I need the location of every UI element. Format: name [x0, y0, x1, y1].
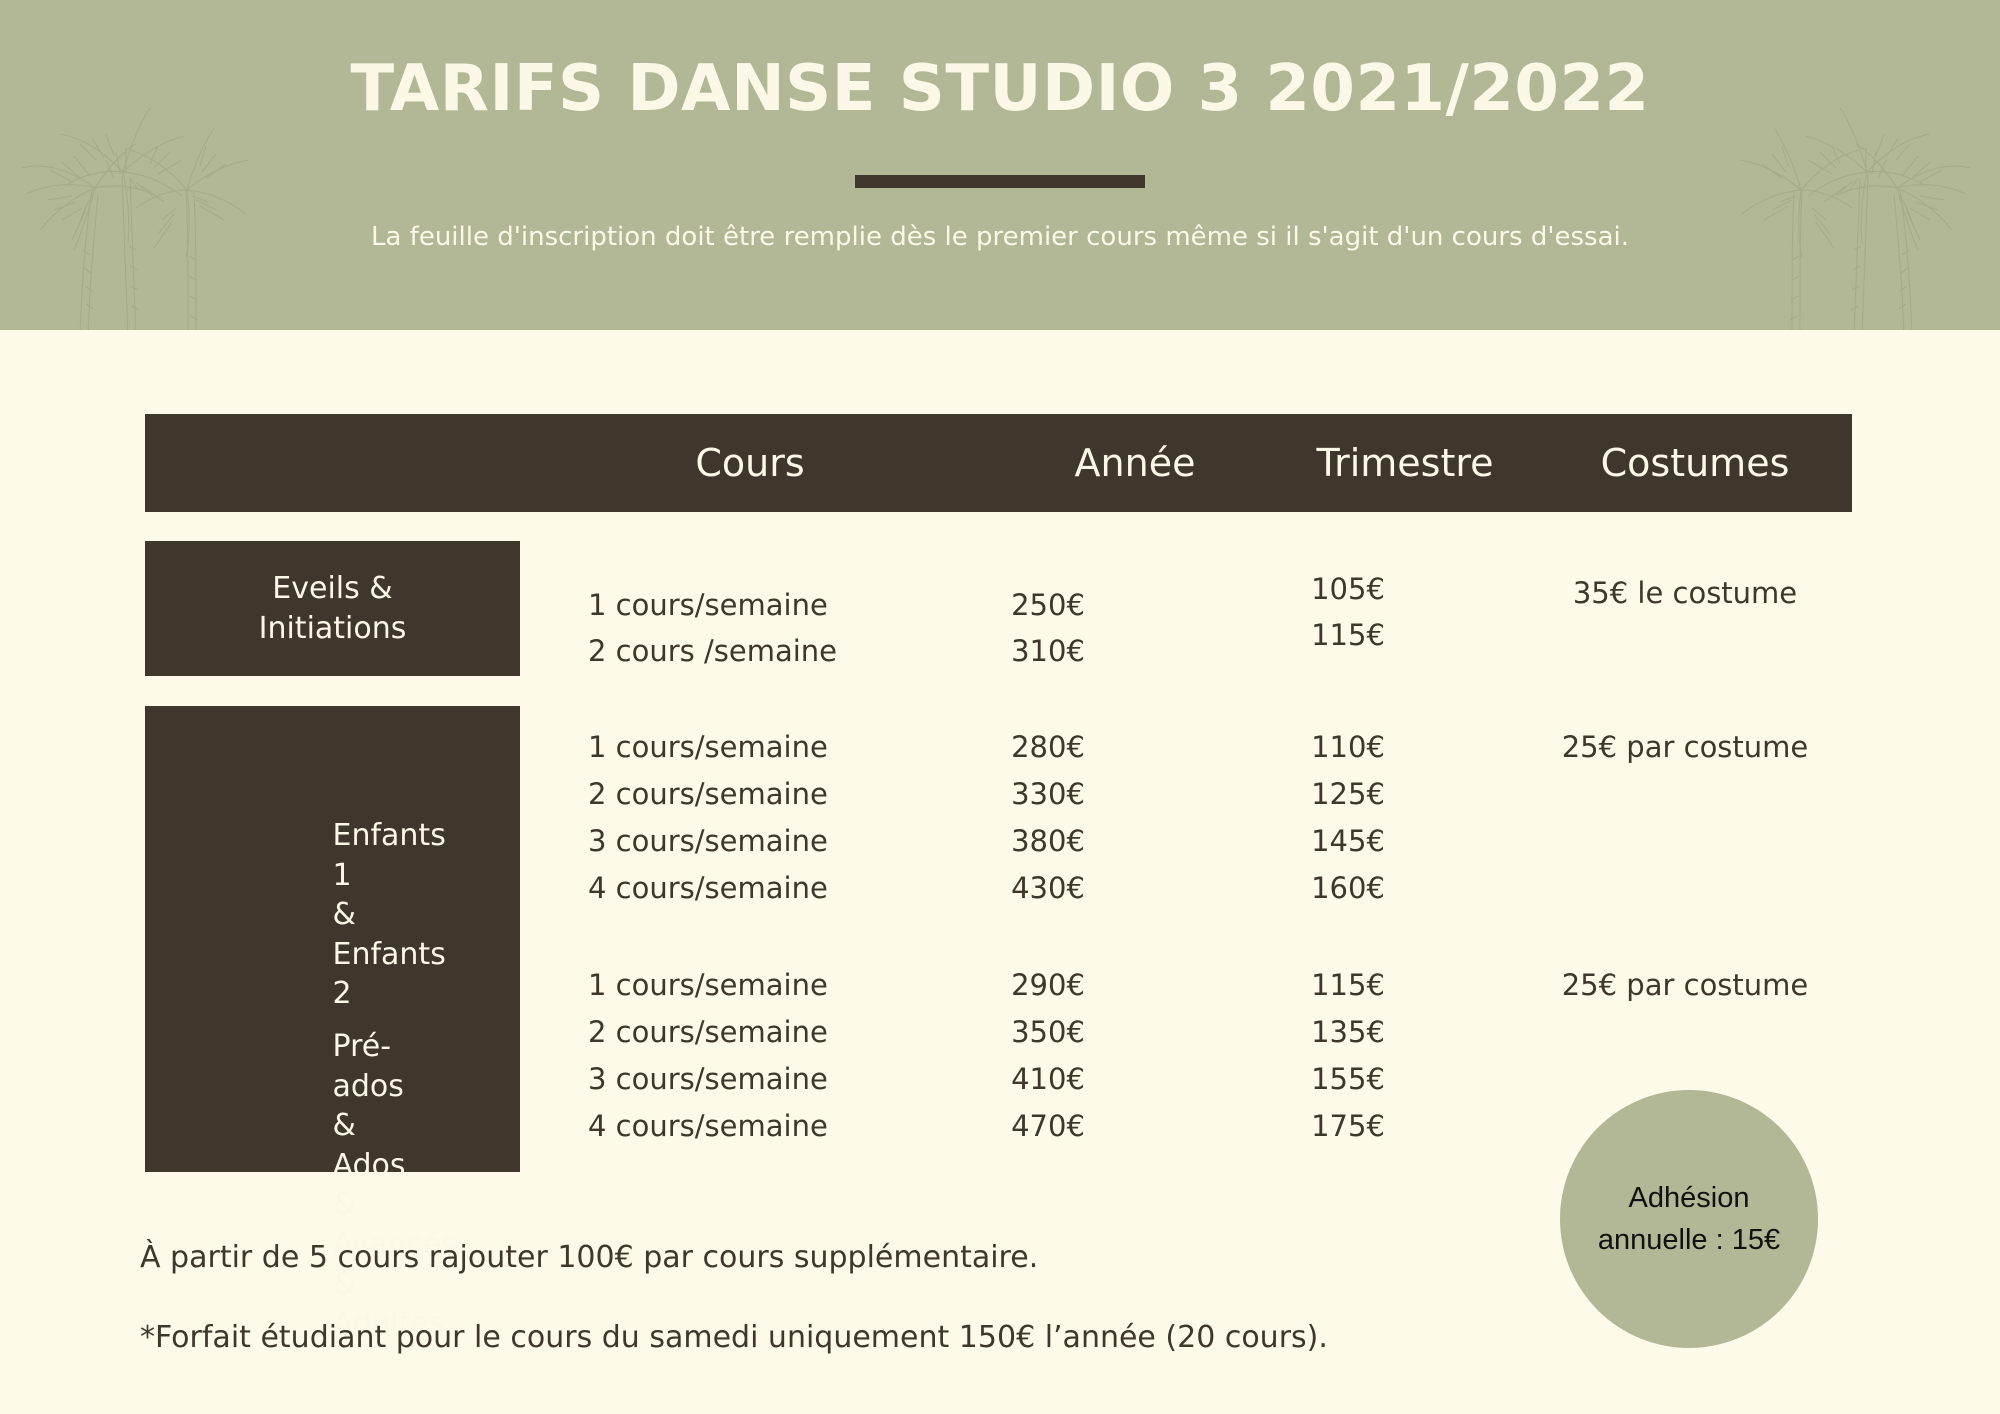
table-cell-cours: 4 cours/semaine — [588, 1109, 868, 1143]
table-cell-cours: 1 cours/semaine — [588, 588, 868, 622]
table-cell-annee: 290€ — [978, 968, 1118, 1002]
title-divider — [855, 175, 1145, 188]
table-header-bar: Cours Année Trimestre Costumes — [145, 414, 1852, 512]
table-cell-trimestre: 125€ — [1288, 777, 1408, 811]
table-cell-cours: 4 cours/semaine — [588, 871, 868, 905]
badge-line-2: annuelle : 15€ — [1598, 1219, 1780, 1261]
table-cell-cours: 3 cours/semaine — [588, 1062, 868, 1096]
table-cell-annee: 250€ — [978, 588, 1118, 622]
table-cell-costumes: 25€ par costume — [1520, 968, 1850, 1002]
table-cell-trimestre: 175€ — [1288, 1109, 1408, 1143]
header-subtitle: La feuille d'inscription doit être rempl… — [0, 222, 2000, 252]
column-header-trimestre: Trimestre — [1275, 414, 1535, 512]
table-cell-cours: 2 cours /semaine — [588, 634, 868, 668]
table-cell-trimestre: 155€ — [1288, 1062, 1408, 1096]
document-header: TARIFS DANSE STUDIO 3 2021/2022 La feuil… — [0, 0, 2000, 330]
table-cell-annee: 470€ — [978, 1109, 1118, 1143]
table-cell-trimestre: 135€ — [1288, 1015, 1408, 1049]
table-cell-trimestre: 160€ — [1288, 871, 1408, 905]
group-label-line: Eveils & — [259, 569, 407, 609]
table-cell-cours: 1 cours/semaine — [588, 730, 868, 764]
table-cell-costumes: 25€ par costume — [1520, 730, 1850, 764]
table-cell-trimestre: 145€ — [1288, 824, 1408, 858]
table-cell-annee: 430€ — [978, 871, 1118, 905]
table-cell-trimestre: 115€ — [1288, 968, 1408, 1002]
table-cell-annee: 280€ — [978, 730, 1118, 764]
table-cell-cours: 2 cours/semaine — [588, 777, 868, 811]
membership-fee-badge: Adhésion annuelle : 15€ — [1560, 1090, 1818, 1348]
table-cell-trimestre: 105€ — [1288, 572, 1408, 606]
table-cell-annee: 330€ — [978, 777, 1118, 811]
pricing-document: TARIFS DANSE STUDIO 3 2021/2022 La feuil… — [0, 0, 2000, 1414]
footnote-supplementary-courses: À partir de 5 cours rajouter 100€ par co… — [140, 1240, 1038, 1275]
badge-line-1: Adhésion — [1629, 1177, 1750, 1219]
table-cell-cours: 2 cours/semaine — [588, 1015, 868, 1049]
group-label-eveils-initiations: Eveils & Initiations — [145, 541, 520, 676]
column-header-annee: Année — [1025, 414, 1245, 512]
table-cell-costumes: 35€ le costume — [1520, 576, 1850, 610]
table-cell-annee: 380€ — [978, 824, 1118, 858]
table-cell-cours: 1 cours/semaine — [588, 968, 868, 1002]
group-label-column-lower: Enfants 1 & Enfants 2 Pré-ados & Ados & … — [145, 706, 520, 1172]
table-cell-annee: 410€ — [978, 1062, 1118, 1096]
table-cell-trimestre: 110€ — [1288, 730, 1408, 764]
table-cell-annee: 310€ — [978, 634, 1118, 668]
page-title: TARIFS DANSE STUDIO 3 2021/2022 — [0, 52, 2000, 126]
table-cell-annee: 350€ — [978, 1015, 1118, 1049]
group-label-line: Initiations — [259, 609, 407, 649]
column-header-costumes: Costumes — [1560, 414, 1830, 512]
column-header-cours: Cours — [625, 414, 875, 512]
table-cell-trimestre: 115€ — [1288, 618, 1408, 652]
footnote-student-package: *Forfait étudiant pour le cours du samed… — [140, 1320, 1328, 1355]
table-cell-cours: 3 cours/semaine — [588, 824, 868, 858]
